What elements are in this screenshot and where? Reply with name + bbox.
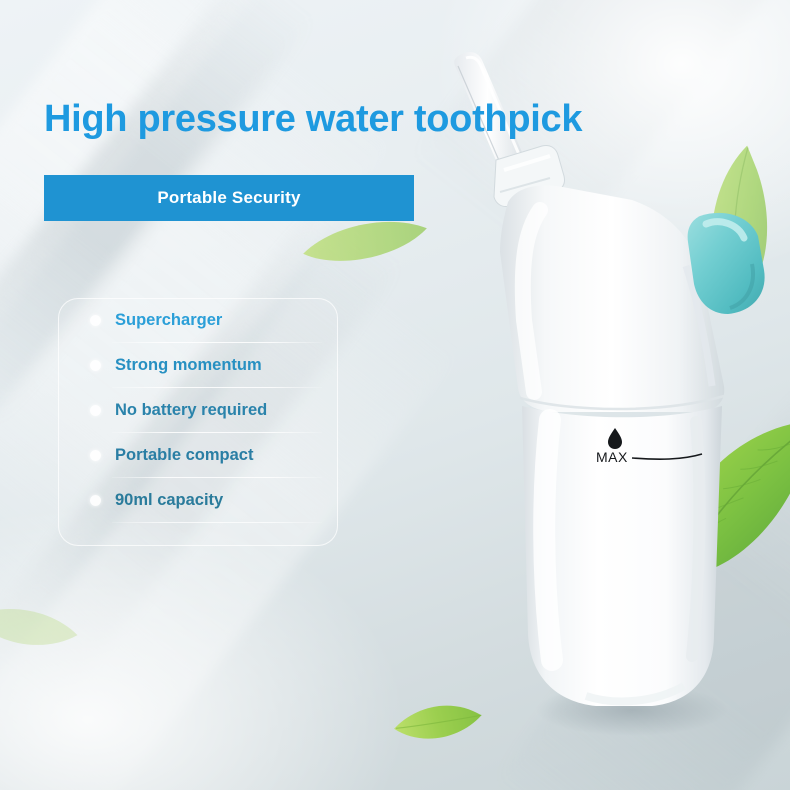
feature-label: Portable compact xyxy=(115,446,253,465)
bullet-icon xyxy=(90,315,101,326)
divider xyxy=(112,522,322,523)
subtitle-banner: Portable Security xyxy=(44,175,414,221)
max-label: MAX xyxy=(596,449,628,465)
feature-label: 90ml capacity xyxy=(115,491,223,510)
leaf-icon xyxy=(0,589,84,665)
bullet-icon xyxy=(90,450,101,461)
bullet-icon xyxy=(90,360,101,371)
list-item: 90ml capacity xyxy=(90,478,316,523)
list-item: No battery required xyxy=(90,388,316,433)
bullet-icon xyxy=(90,405,101,416)
feature-list: Supercharger Strong momentum No battery … xyxy=(58,298,338,546)
feature-label: No battery required xyxy=(115,401,267,420)
feature-label: Strong momentum xyxy=(115,356,262,375)
list-item: Supercharger xyxy=(90,298,316,343)
corner-glow xyxy=(0,510,400,790)
page-title: High pressure water toothpick xyxy=(44,98,582,141)
bullet-icon xyxy=(90,495,101,506)
list-item: Portable compact xyxy=(90,433,316,478)
product-poster: MAX High pressure water toothpick Portab… xyxy=(0,0,790,790)
feature-label: Supercharger xyxy=(115,311,222,330)
subtitle-banner-label: Portable Security xyxy=(157,188,300,208)
list-item: Strong momentum xyxy=(90,343,316,388)
